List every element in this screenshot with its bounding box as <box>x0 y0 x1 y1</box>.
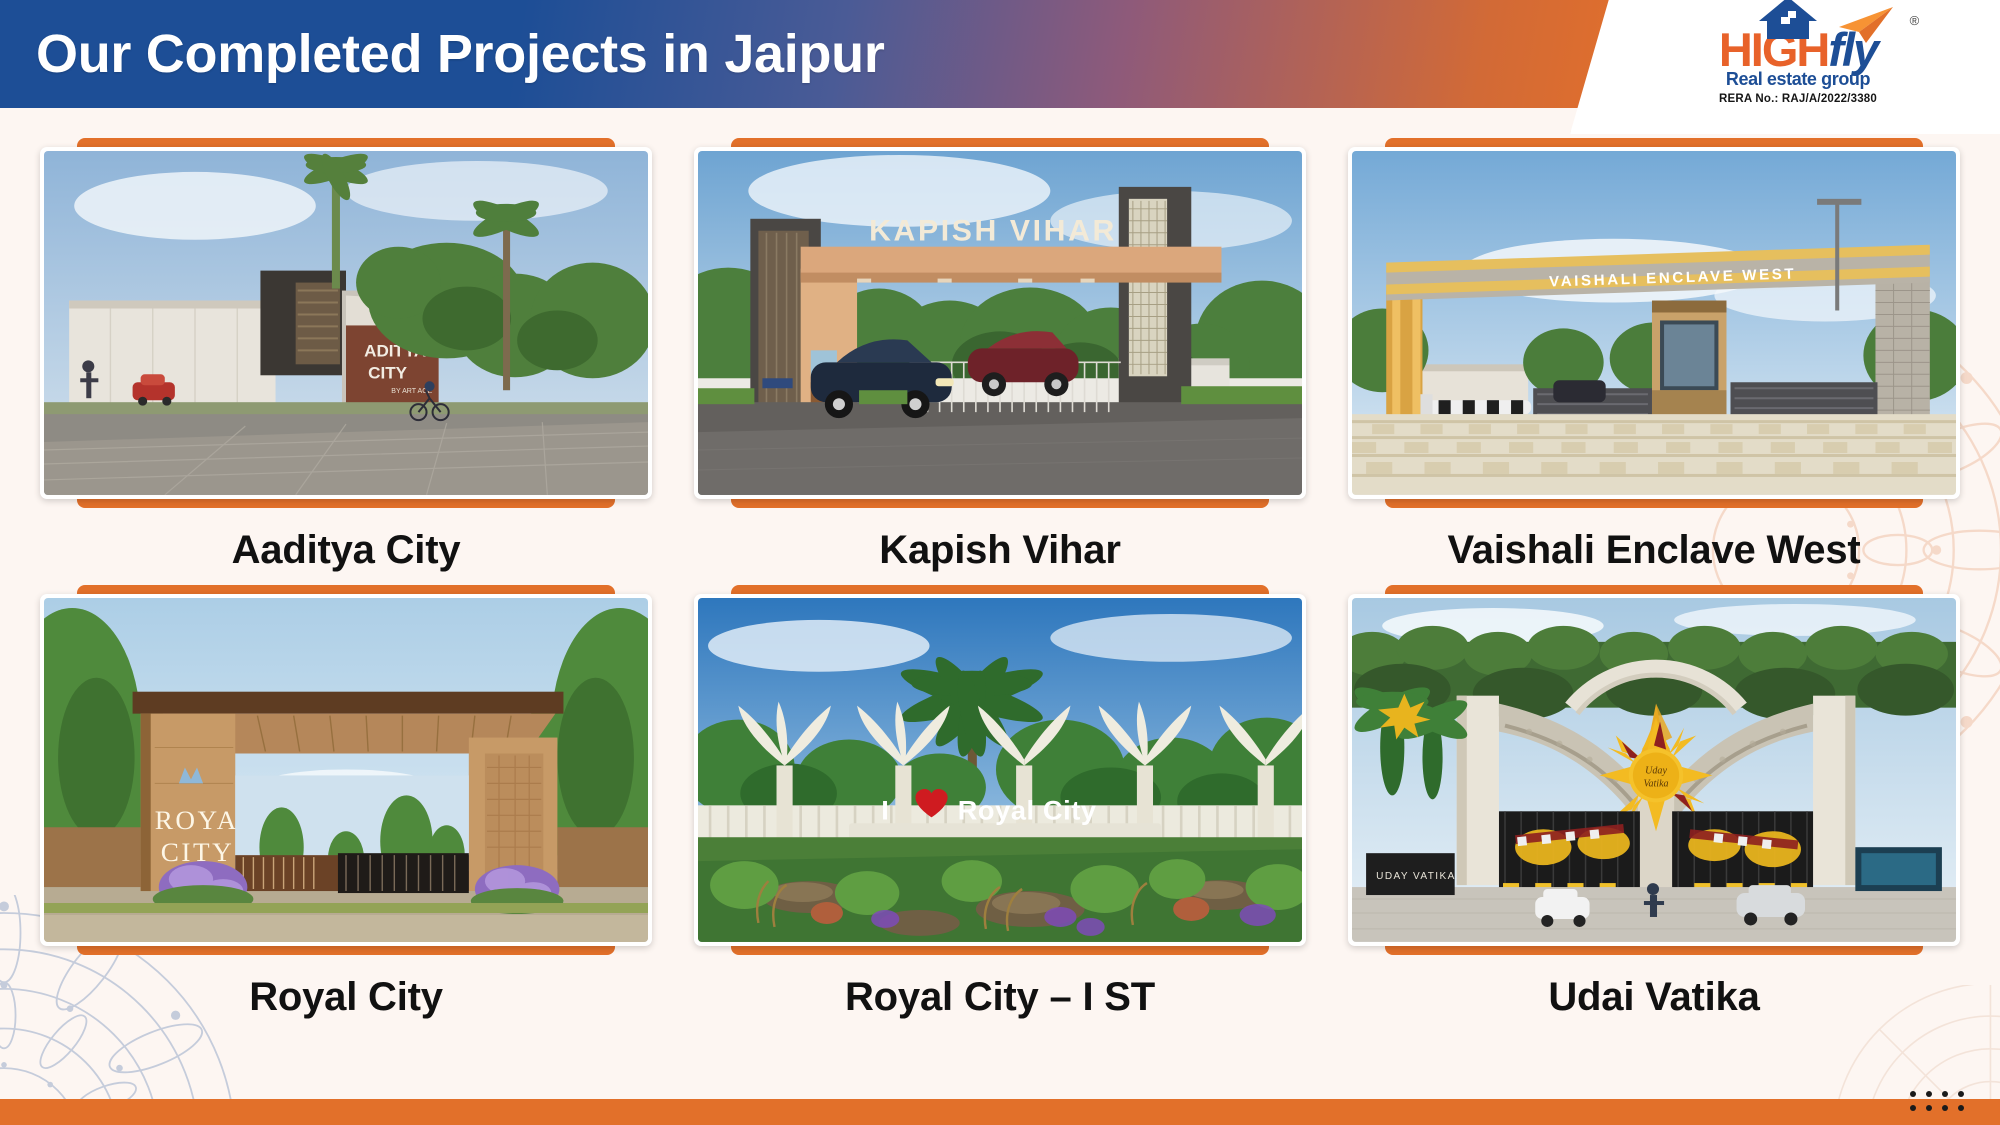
footer-dot-grid <box>1910 1091 1974 1119</box>
footer-dot <box>1958 1091 1964 1097</box>
project-image-kapish-vihar: KAPISH VIHAR <box>698 151 1302 495</box>
project-card-vaishali-enclave-west[interactable]: VAISHALI ENCLAVE WEST <box>1348 138 1960 579</box>
registered-trademark-icon: ® <box>1910 13 1920 28</box>
project-photo-frame: VAISHALI ENCLAVE WEST <box>1348 147 1960 499</box>
footer-dot <box>1910 1105 1916 1111</box>
project-image-aaditya-city: ADITYA CITY BY ART AGE <box>44 151 648 495</box>
footer-dot <box>1958 1105 1964 1111</box>
project-card-royal-city[interactable]: ROYAL CITY <box>40 585 652 1026</box>
svg-text:Royal City: Royal City <box>958 795 1097 825</box>
project-label: Vaishali Enclave West <box>1348 508 1960 579</box>
page-header: Our Completed Projects in Jaipur HIGH fl… <box>0 0 2000 108</box>
project-image-royal-city-i-st: I Royal City <box>698 598 1302 942</box>
footer-dot <box>1926 1091 1932 1097</box>
project-label: Aaditya City <box>40 508 652 579</box>
project-photo-frame: KAPISH VIHAR <box>694 147 1306 499</box>
project-label: Kapish Vihar <box>694 508 1306 579</box>
house-icon <box>1757 0 1819 41</box>
project-card-udai-vatika[interactable]: Uday Vatika <box>1348 585 1960 1026</box>
project-photo-frame: ADITYA CITY BY ART AGE <box>40 147 652 499</box>
svg-text:KAPISH VIHAR: KAPISH VIHAR <box>869 215 1117 248</box>
project-card-aaditya-city[interactable]: ADITYA CITY BY ART AGE <box>40 138 652 579</box>
svg-text:Uday: Uday <box>1645 765 1667 776</box>
project-card-kapish-vihar[interactable]: KAPISH VIHAR <box>694 138 1306 579</box>
project-photo-frame: I Royal City <box>694 594 1306 946</box>
project-image-royal-city: ROYAL CITY <box>44 598 648 942</box>
project-image-vaishali-enclave-west: VAISHALI ENCLAVE WEST <box>1352 151 1956 495</box>
projects-grid: ADITYA CITY BY ART AGE <box>0 108 2000 1026</box>
project-label: Udai Vatika <box>1348 955 1960 1026</box>
svg-text:I: I <box>881 795 889 825</box>
svg-text:Vatika: Vatika <box>1643 778 1668 789</box>
footer-dot <box>1926 1105 1932 1111</box>
footer-accent-bar <box>0 1099 2000 1125</box>
footer-dot <box>1942 1105 1948 1111</box>
rera-number: RERA No.: RAJ/A/2022/3380 <box>1719 93 1877 105</box>
project-image-udai-vatika: Uday Vatika <box>1352 598 1956 942</box>
project-photo-frame: Uday Vatika <box>1348 594 1960 946</box>
project-label: Royal City – I ST <box>694 955 1306 1026</box>
project-photo-frame: ROYAL CITY <box>40 594 652 946</box>
svg-text:UDAY VATIKA: UDAY VATIKA <box>1376 871 1456 882</box>
project-label: Royal City <box>40 955 652 1026</box>
svg-text:CITY: CITY <box>368 363 408 382</box>
page-title: Our Completed Projects in Jaipur <box>36 23 885 85</box>
project-card-royal-city-i-st[interactable]: I Royal City <box>694 585 1306 1026</box>
footer-dot <box>1910 1091 1916 1097</box>
paper-plane-icon <box>1833 5 1895 45</box>
footer-dot <box>1942 1091 1948 1097</box>
